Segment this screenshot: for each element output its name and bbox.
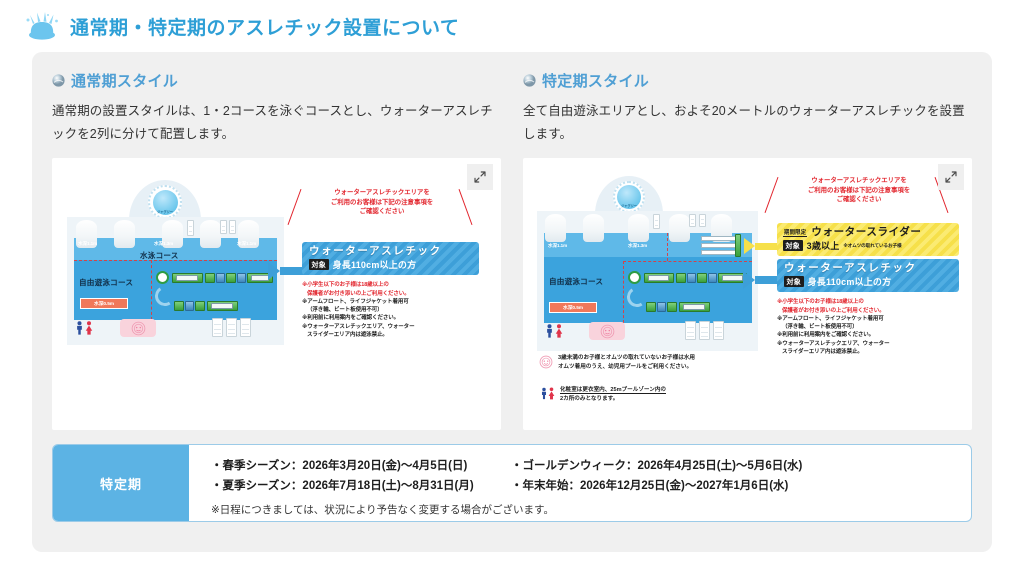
locker-unit <box>685 321 696 340</box>
callout-line: ご利用のお客様は下記の注意事項を <box>779 186 939 195</box>
pool-zone-divider <box>151 260 152 320</box>
baby-face-icon <box>539 355 553 374</box>
pool-layout-diagram-special: ジャグジー <box>523 158 972 430</box>
note-item: ※アームフロート、ライフジャケット着用可 <box>777 315 889 323</box>
locker-unit <box>653 214 660 229</box>
section-heading-normal: 通常期スタイル <box>52 70 501 91</box>
banner-water-athletic-special: ウォーターアスレチック 対象 身長110cm以上の方 <box>777 259 959 292</box>
jacuzzi-badge: ジャグジー <box>148 185 182 219</box>
legend-text: 化粧室は更衣室内、25mプールゾーン内の 2カ所のみとなります。 <box>560 386 666 403</box>
depth-chip: 水深0.5m <box>549 302 597 313</box>
locker-unit <box>699 214 706 227</box>
banner-target-value: 身長110cm以上の方 <box>333 258 417 271</box>
pool-pillar <box>200 220 221 248</box>
baby-face-icon <box>589 322 625 340</box>
pool-zone-divider <box>667 233 668 261</box>
pool-pillar <box>628 214 649 242</box>
note-item: 保護者がお付き添いの上ご利用ください。 <box>777 307 889 315</box>
style-columns: 通常期スタイル 通常期の設置スタイルは、1・2コースを泳ぐコースとし、ウォーター… <box>52 70 972 430</box>
note-item: ※小学生以下のお子様は18歳以上の <box>777 298 889 306</box>
water-slider-lane <box>701 236 739 241</box>
depth-label: 水深1.3m <box>628 243 647 249</box>
restroom-icon <box>546 324 563 338</box>
pool-zone-divider <box>623 261 624 323</box>
note-item: ※アームフロート、ライフジャケット着用可 <box>302 298 414 306</box>
depth-label: 水深1.1m <box>548 243 567 249</box>
note-item: ※小学生以下のお子様は18歳以上の <box>302 281 414 289</box>
athletic-unit <box>708 273 717 283</box>
athletic-unit <box>174 301 184 311</box>
athletic-unit <box>195 301 205 311</box>
athletic-unit <box>205 273 215 283</box>
depth-chip: 水深0.5m <box>80 298 128 309</box>
notes-list-normal: ※小学生以下のお子様は18歳以上の 保護者がお付き添いの上ご利用ください。 ※ア… <box>302 281 414 339</box>
water-slider-end <box>735 234 741 257</box>
expand-arrows-icon[interactable] <box>938 164 964 190</box>
pool-pillar <box>114 220 135 248</box>
locker-unit <box>699 321 710 340</box>
pool-pillar <box>669 214 690 242</box>
banner-title: ウォーターアスレチック <box>309 245 474 257</box>
athletic-unit <box>683 304 705 310</box>
jacuzzi-badge: ジャグジー <box>613 181 645 213</box>
season-table-header: 特定期 <box>53 445 189 521</box>
athletic-unit <box>722 275 743 281</box>
athletic-unit <box>676 273 686 283</box>
diagram-card-special[interactable]: ジャグジー <box>523 158 972 430</box>
water-slider-lane <box>701 250 739 255</box>
legend-line: 化粧室は更衣室内、25mプールゾーン内の <box>560 387 666 394</box>
water-slider-lane <box>701 243 739 248</box>
diagram-card-normal[interactable]: ジャグジー <box>52 158 501 430</box>
athletic-unit <box>687 273 696 283</box>
season-table: 特定期 ・春季シーズン：2026年3月20日(金)〜4月5日(日) ・ゴールデン… <box>52 444 972 522</box>
section-special-period: 特定期スタイル 全て自由遊泳エリアとし、およそ20メートルのウォーターアスレチッ… <box>523 70 972 430</box>
athletic-unit <box>657 302 666 312</box>
section-normal-period: 通常期スタイル 通常期の設置スタイルは、1・2コースを泳ぐコースとし、ウォーター… <box>52 70 501 430</box>
page-title: 通常期・特定期のアスレチック設置について <box>70 13 459 40</box>
callout-line: ウォーターアスレチックエリアを <box>779 176 939 185</box>
athletic-unit <box>216 273 225 283</box>
season-items-grid: ・春季シーズン：2026年3月20日(金)〜4月5日(日) ・ゴールデンウィーク… <box>211 457 955 493</box>
restroom-icon <box>76 321 93 335</box>
restroom-icon <box>541 387 555 400</box>
athletic-unit <box>648 275 669 281</box>
note-item: 保護者がお付き添いの上ご利用ください。 <box>302 290 414 298</box>
locker-unit <box>689 214 696 227</box>
banner-target-value: 3歳以上 <box>807 239 840 252</box>
pool-course-label: 水泳コース <box>140 250 179 261</box>
locker-unit <box>220 220 227 234</box>
jacuzzi-label: ジャグジー <box>621 203 637 209</box>
banner-target-tag: 対象 <box>784 276 804 287</box>
athletic-unit <box>176 275 198 281</box>
season-item: ・春季シーズン：2026年3月20日(金)〜4月5日(日) <box>211 457 511 473</box>
water-splash-icon <box>24 11 60 41</box>
section-title-normal: 通常期スタイル <box>71 70 178 91</box>
legend-text: 3歳未満のお子様とオムツの取れていないお子様は水用 オムツ着用のうえ、幼児用プー… <box>558 354 695 371</box>
depth-label: 水深1.3m <box>154 241 173 247</box>
pool-layout-diagram-normal: ジャグジー <box>52 158 501 430</box>
athletic-unit <box>237 273 246 283</box>
locker-unit <box>713 321 724 340</box>
pool-lane-divider <box>623 261 752 262</box>
athletic-unit <box>185 301 194 311</box>
callout-line: ご利用のお客様は下記の注意事項を <box>302 198 462 207</box>
locker-unit <box>226 318 237 337</box>
banner-title: ウォータースライダー <box>811 226 921 238</box>
callout-slash <box>288 189 302 225</box>
depth-label: 水深1.1m <box>237 241 256 247</box>
red-callout-normal: ウォーターアスレチックエリアを ご利用のお客様は下記の注意事項を ご確認ください <box>302 188 462 216</box>
pool-pillar <box>583 214 604 242</box>
note-item: ※利用前に利用案内をご確認ください。 <box>777 331 889 339</box>
note-item: スライダーエリア内は遊泳禁止。 <box>302 331 414 339</box>
athletic-unit <box>251 275 269 281</box>
blue-sphere-icon <box>523 74 536 87</box>
blue-sphere-icon <box>52 74 65 87</box>
callout-line: ご確認ください <box>302 207 462 216</box>
locker-unit <box>229 220 236 234</box>
page-header: 通常期・特定期のアスレチック設置について <box>0 0 1024 52</box>
callout-line: ご確認ください <box>779 195 939 204</box>
athletic-unit <box>211 303 233 309</box>
callout-arrow-head <box>743 271 755 289</box>
section-title-special: 特定期スタイル <box>542 70 649 91</box>
content-panel: 通常期スタイル 通常期の設置スタイルは、1・2コースを泳ぐコースとし、ウォーター… <box>32 52 992 552</box>
callout-arrow-head-yellow <box>744 238 755 254</box>
banner-target-tag: 対象 <box>309 259 329 270</box>
jacuzzi-label: ジャグジー <box>157 209 173 215</box>
locker-unit <box>187 220 194 236</box>
banner-title: ウォーターアスレチック <box>784 262 954 274</box>
legend-restroom: 化粧室は更衣室内、25mプールゾーン内の 2カ所のみとなります。 <box>541 386 666 403</box>
note-item: ※ウォーターアスレチックエリア、ウォーター <box>302 323 414 331</box>
note-item: （浮き輪、ビート板使用不可） <box>302 306 414 314</box>
note-item: （浮き輪、ビート板使用不可） <box>777 323 889 331</box>
athletic-unit <box>226 273 236 283</box>
banner-water-athletic-normal: ウォーターアスレチック 対象 身長110cm以上の方 <box>302 242 479 275</box>
section-description-normal: 通常期の設置スタイルは、1・2コースを泳ぐコースとし、ウォーターアスレチックを2… <box>52 100 501 146</box>
legend-line: オムツ着用のうえ、幼児用プールをご利用ください。 <box>558 364 692 370</box>
season-item: ・ゴールデンウィーク：2026年4月25日(土)〜5月6日(水) <box>511 457 955 473</box>
depth-label: 水深1.1m <box>78 241 97 247</box>
season-item: ・夏季シーズン：2026年7月18日(土)〜8月31日(月) <box>211 477 511 493</box>
season-item: ・年末年始：2026年12月25日(金)〜2027年1月6日(水) <box>511 477 955 493</box>
legend-line: 3歳未満のお子様とオムツの取れていないお子様は水用 <box>558 355 695 361</box>
callout-arrow-head <box>268 262 280 280</box>
expand-arrows-icon[interactable] <box>467 164 493 190</box>
baby-face-icon <box>120 319 156 337</box>
notes-list-special: ※小学生以下のお子様は18歳以上の 保護者がお付き添いの上ご利用ください。 ※ア… <box>777 298 889 356</box>
banner-prefix: 期間限定 <box>783 228 807 237</box>
banner-water-slider: 期間限定 ウォータースライダー 対象 3歳以上 ※オムツの取れているお子様 <box>777 223 959 256</box>
season-table-body: ・春季シーズン：2026年3月20日(金)〜4月5日(日) ・ゴールデンウィーク… <box>189 445 971 521</box>
note-item: ※利用前に利用案内をご確認ください。 <box>302 314 414 322</box>
athletic-unit <box>697 273 707 283</box>
callout-slash <box>765 177 779 213</box>
section-description-special: 全て自由遊泳エリアとし、およそ20メートルのウォーターアスレチックを設置します。 <box>523 100 972 146</box>
athletic-unit <box>646 302 656 312</box>
callout-line: ウォーターアスレチックエリアを <box>302 188 462 197</box>
season-footnote: ※日程につきましては、状況により予告なく変更する場合がございます。 <box>211 502 955 517</box>
banner-target-tag: 対象 <box>783 240 803 251</box>
note-item: ※ウォーターアスレチックエリア、ウォーター <box>777 340 889 348</box>
legend-baby-pool: 3歳未満のお子様とオムツの取れていないお子様は水用 オムツ着用のうえ、幼児用プー… <box>539 354 695 374</box>
pool-course-label: 自由遊泳コース <box>549 276 603 287</box>
section-heading-special: 特定期スタイル <box>523 70 972 91</box>
pool-pillar <box>545 214 566 242</box>
note-item: スライダーエリア内は遊泳禁止。 <box>777 348 889 356</box>
banner-note: ※オムツの取れているお子様 <box>843 243 901 249</box>
locker-unit <box>212 318 223 337</box>
athletic-unit <box>667 302 677 312</box>
locker-unit <box>240 318 251 337</box>
red-callout-special: ウォーターアスレチックエリアを ご利用のお客様は下記の注意事項を ご確認ください <box>779 176 939 204</box>
legend-line: 2カ所のみとなります。 <box>560 396 618 402</box>
pool-course-label: 自由遊泳コース <box>79 277 133 288</box>
banner-target-value: 身長110cm以上の方 <box>808 275 892 288</box>
